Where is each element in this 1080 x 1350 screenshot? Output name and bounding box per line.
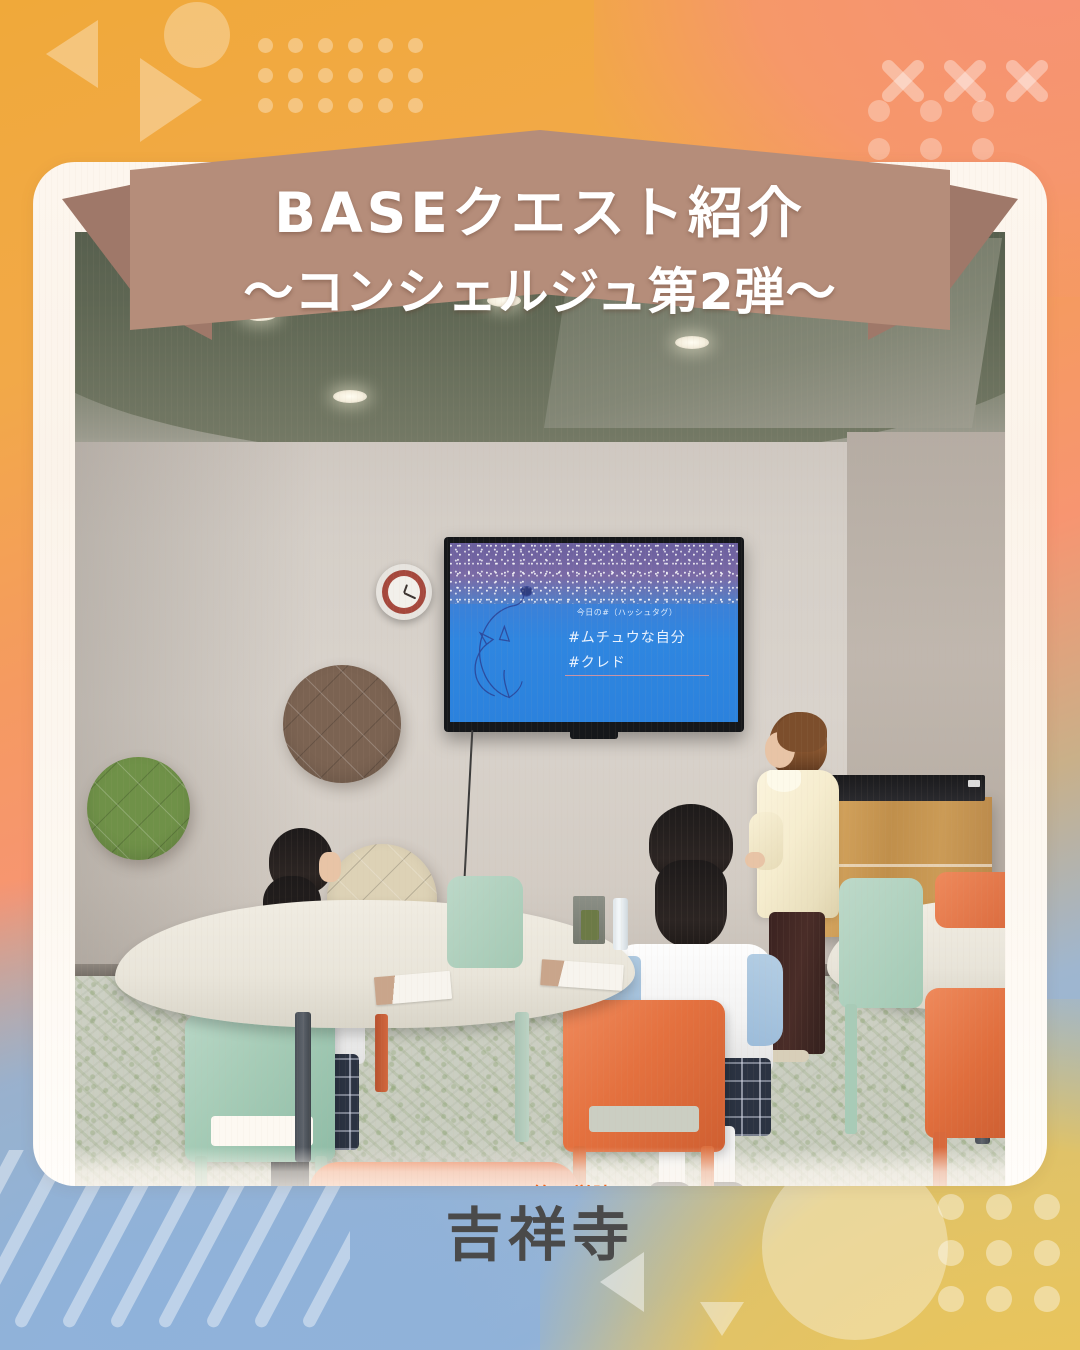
student-right-sleeve-right — [747, 954, 783, 1046]
presenter-hair-top — [777, 712, 827, 752]
student-left-face — [319, 852, 341, 882]
pen-holder-pocket — [581, 910, 599, 940]
chair-mint-far-leg — [845, 1004, 857, 1134]
location-name: 吉祥寺 — [0, 1188, 1080, 1272]
table-front-leg-2 — [515, 1012, 529, 1142]
chair-mint-far — [839, 878, 923, 1008]
presenter-collar — [767, 770, 801, 792]
slide-hashtag-2: #クレド — [568, 652, 626, 672]
managara-base-logo: 第一学院 managara BASE. — [33, 1180, 1047, 1186]
x-mark-icon-2 — [938, 54, 992, 108]
chair-mint-background — [447, 876, 523, 968]
cat-line-drawing-icon — [459, 575, 563, 704]
downlight-4 — [333, 390, 367, 403]
acoustic-panel-green — [87, 757, 190, 860]
chair-orange-right-cutout — [589, 1106, 699, 1132]
classroom-photo: 今日の#（ハッシュタグ） #ムチュウな自分 #クレド — [75, 232, 1005, 1186]
tv-stand — [570, 732, 618, 739]
ribbon-main-band — [130, 130, 950, 330]
student-right-ponytail — [655, 860, 727, 946]
table-front-leg-1 — [295, 1012, 311, 1162]
wall-clock — [376, 564, 432, 620]
tv-screen: 今日の#（ハッシュタグ） #ムチュウな自分 #クレド — [450, 543, 738, 722]
logo-school-name: 第一学院 — [533, 1180, 613, 1186]
acoustic-panel-brown — [283, 665, 401, 783]
dot-grid-top — [258, 38, 438, 128]
water-bottle — [613, 898, 628, 950]
chair-orange-far — [935, 872, 1005, 928]
logo-school-row: 第一学院 — [462, 1180, 684, 1186]
triangle-left-icon — [46, 20, 98, 88]
chair-orange-far-2 — [925, 988, 1005, 1138]
title-ribbon-banner: BASEクエスト紹介 〜コンシェルジュ第2弾〜 — [0, 118, 1080, 348]
x-mark-icon-3 — [1000, 54, 1054, 108]
triangle-small-icon-bottom — [700, 1302, 744, 1336]
slide-hashtag-1: #ムチュウな自分 — [568, 627, 686, 647]
x-mark-icon-1 — [876, 54, 930, 108]
slide-underline — [565, 675, 709, 676]
slide-label: 今日の#（ハッシュタグ） — [577, 607, 678, 618]
table-front-leg-3 — [375, 1014, 388, 1092]
circle-decoration-top — [164, 2, 230, 68]
wall-mounted-tv: 今日の#（ハッシュタグ） #ムチュウな自分 #クレド — [444, 537, 744, 732]
